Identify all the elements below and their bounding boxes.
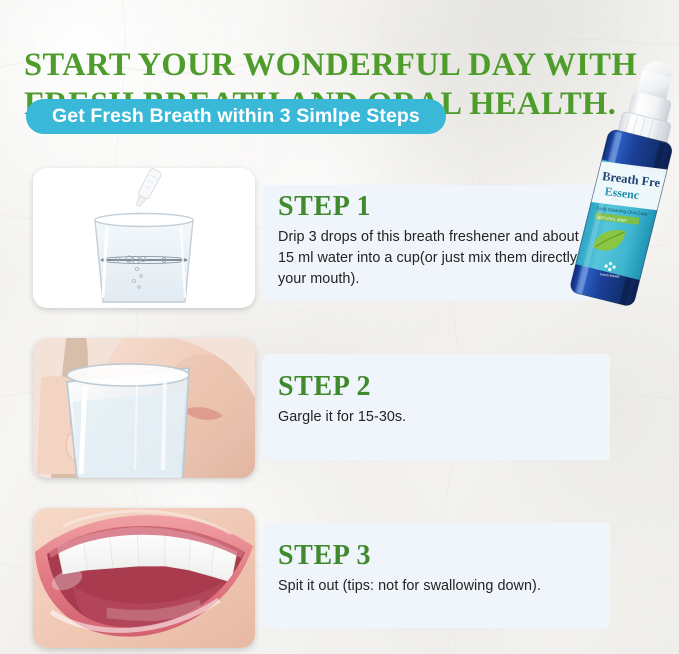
step-1-title: STEP 1 — [278, 192, 594, 223]
step-2-title: STEP 2 — [278, 372, 594, 403]
smiling-white-teeth-photo — [33, 508, 255, 648]
step-3-body: Spit it out (tips: not for swallowing do… — [278, 576, 594, 597]
step-2-body: Gargle it for 15-30s. — [278, 407, 594, 428]
subheading-banner-label: Get Fresh Breath within 3 Simlpe Steps — [52, 105, 420, 128]
step-2-text-panel: STEP 2 Gargle it for 15-30s. — [262, 354, 610, 460]
step-3-text-panel: STEP 3 Spit it out (tips: not for swallo… — [262, 523, 610, 628]
dropper-over-water-glass-photo — [33, 168, 255, 308]
step-row-2: STEP 2 Gargle it for 15-30s. — [0, 338, 679, 488]
step-1-text-panel: STEP 1 Drip 3 drops of this breath fresh… — [262, 185, 610, 300]
headline-line-1: START YOUR WONDERFUL DAY WITH — [24, 46, 634, 86]
step-1-body: Drip 3 drops of this breath freshener an… — [278, 227, 594, 291]
subheading-banner: Get Fresh Breath within 3 Simlpe Steps — [26, 99, 446, 134]
step-row-1: STEP 1 Drip 3 drops of this breath fresh… — [0, 168, 679, 318]
woman-gargling-water-photo — [33, 338, 255, 478]
step-3-title: STEP 3 — [278, 541, 594, 572]
step-row-3: STEP 3 Spit it out (tips: not for swallo… — [0, 508, 679, 654]
